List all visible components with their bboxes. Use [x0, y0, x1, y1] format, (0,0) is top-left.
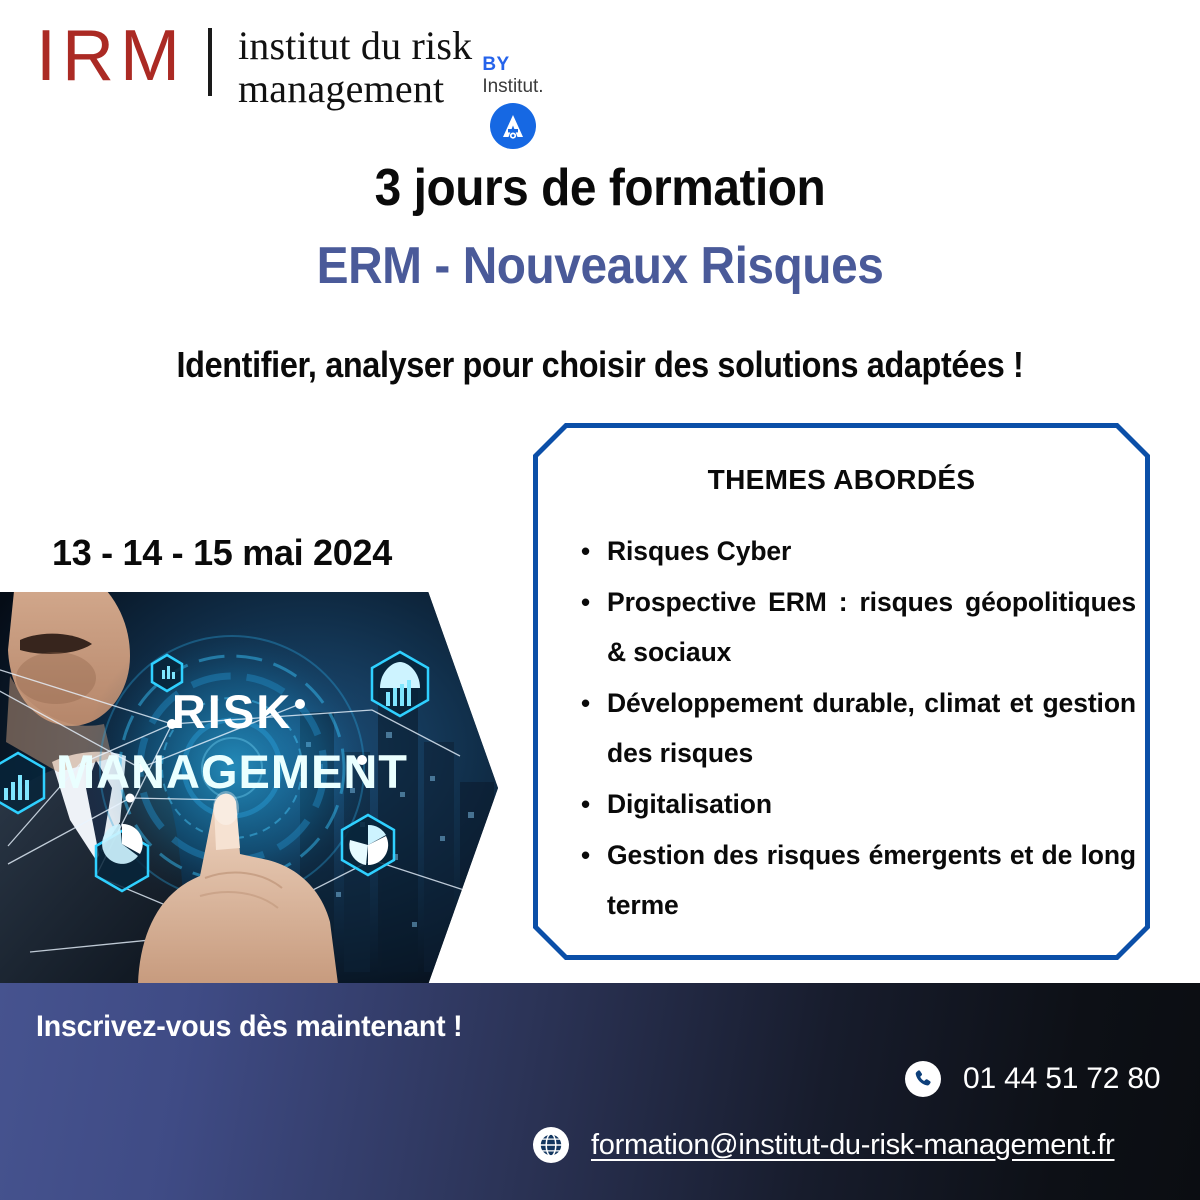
- email-address[interactable]: formation@institut-du-risk-management.fr: [591, 1129, 1115, 1162]
- list-item-label: Digitalisation: [607, 789, 772, 819]
- logo-acronym: IRM: [36, 12, 186, 92]
- logo-wordmark-line1: institut du risk: [238, 24, 472, 67]
- event-dates: 13 - 14 - 15 mai 2024: [52, 532, 392, 574]
- logo-wordmark-line2: management: [238, 67, 472, 110]
- phone-number[interactable]: 01 44 51 72 80: [963, 1062, 1160, 1096]
- list-item: • Développement durable, climat et gesti…: [607, 678, 1136, 778]
- phone-icon: [905, 1061, 941, 1097]
- list-item: • Prospective ERM : risques géopolitique…: [607, 577, 1136, 677]
- brand-logo: IRM institut du risk management BY Insti…: [36, 12, 544, 149]
- globe-icon: [533, 1127, 569, 1163]
- logo-by-block: BY Institut.: [482, 12, 543, 149]
- page-tagline: Identifier, analyser pour choisir des so…: [60, 344, 1140, 386]
- bullet-icon: •: [581, 678, 590, 728]
- themes-panel-title: THEMES ABORDÉS: [533, 464, 1150, 496]
- footer-bar: Inscrivez-vous dès maintenant ! 01 44 51…: [0, 983, 1200, 1200]
- logo-by-label: BY: [482, 54, 509, 76]
- list-item: • Digitalisation: [607, 779, 1136, 829]
- list-item-label: Risques Cyber: [607, 536, 791, 566]
- hero-photo: RISK MANAGEMENT: [0, 592, 498, 984]
- themes-list: • Risques Cyber • Prospective ERM : risq…: [575, 526, 1136, 931]
- bullet-icon: •: [581, 526, 590, 576]
- logo-by-brand: Institut.: [482, 77, 543, 98]
- list-item: • Gestion des risques émergents et de lo…: [607, 830, 1136, 930]
- list-item-label: Gestion des risques émergents et de long…: [607, 840, 1136, 920]
- list-item: • Risques Cyber: [607, 526, 1136, 576]
- hero-photo-artwork: RISK MANAGEMENT: [0, 592, 498, 984]
- institut-a-badge-icon: [490, 103, 536, 149]
- page-subtitle: ERM - Nouveaux Risques: [48, 236, 1152, 296]
- footer-cta-text: Inscrivez-vous dès maintenant !: [36, 1010, 462, 1044]
- page-title: 3 jours de formation: [48, 158, 1152, 218]
- poster-root: IRM institut du risk management BY Insti…: [0, 0, 1200, 1200]
- bullet-icon: •: [581, 830, 590, 880]
- hero-photo-overlay-line1: RISK: [172, 685, 292, 738]
- hero-photo-overlay-line2: MANAGEMENT: [56, 745, 408, 798]
- logo-wordmark: institut du risk management: [238, 12, 472, 110]
- list-item-label: Prospective ERM : risques géopolitiques …: [607, 587, 1136, 667]
- contact-email[interactable]: formation@institut-du-risk-management.fr: [533, 1127, 1115, 1163]
- logo-divider: [208, 28, 212, 96]
- list-item-label: Développement durable, climat et gestion…: [607, 688, 1136, 768]
- bullet-icon: •: [581, 779, 590, 829]
- themes-panel: THEMES ABORDÉS • Risques Cyber • Prospec…: [533, 423, 1150, 960]
- bullet-icon: •: [581, 577, 590, 627]
- contact-phone[interactable]: 01 44 51 72 80: [905, 1061, 1160, 1097]
